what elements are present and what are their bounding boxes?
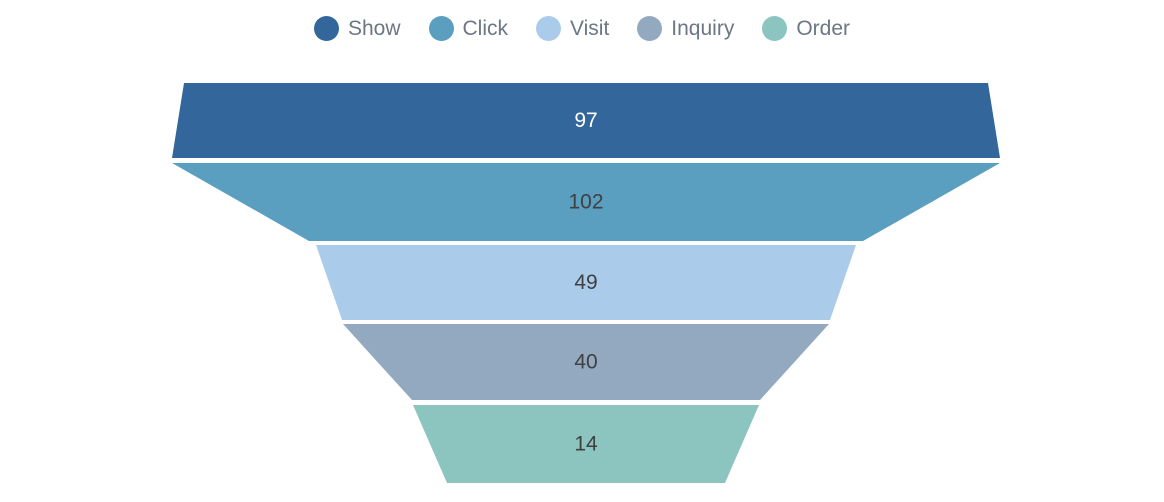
funnel-svg: 97102494014: [0, 56, 1164, 502]
legend-label: Visit: [570, 18, 609, 39]
funnel-value-label: 97: [574, 109, 597, 132]
legend-label: Order: [796, 18, 850, 39]
funnel-plot-area: 97102494014: [0, 56, 1164, 502]
funnel-value-label: 49: [574, 271, 597, 294]
legend-item-inquiry[interactable]: Inquiry: [637, 16, 734, 41]
funnel-value-label: 40: [574, 351, 597, 374]
legend-swatch-icon: [536, 16, 561, 41]
legend-label: Inquiry: [671, 18, 734, 39]
legend-swatch-icon: [637, 16, 662, 41]
funnel-chart: Show Click Visit Inquiry Order 971024940…: [0, 0, 1164, 502]
legend-swatch-icon: [762, 16, 787, 41]
legend-item-click[interactable]: Click: [429, 16, 509, 41]
legend-label: Show: [348, 18, 401, 39]
funnel-value-label: 102: [568, 191, 603, 214]
legend-item-visit[interactable]: Visit: [536, 16, 609, 41]
legend-swatch-icon: [429, 16, 454, 41]
funnel-value-label: 14: [574, 433, 598, 456]
legend-item-order[interactable]: Order: [762, 16, 850, 41]
legend-item-show[interactable]: Show: [314, 16, 401, 41]
chart-legend: Show Click Visit Inquiry Order: [0, 0, 1164, 56]
legend-swatch-icon: [314, 16, 339, 41]
legend-label: Click: [463, 18, 509, 39]
